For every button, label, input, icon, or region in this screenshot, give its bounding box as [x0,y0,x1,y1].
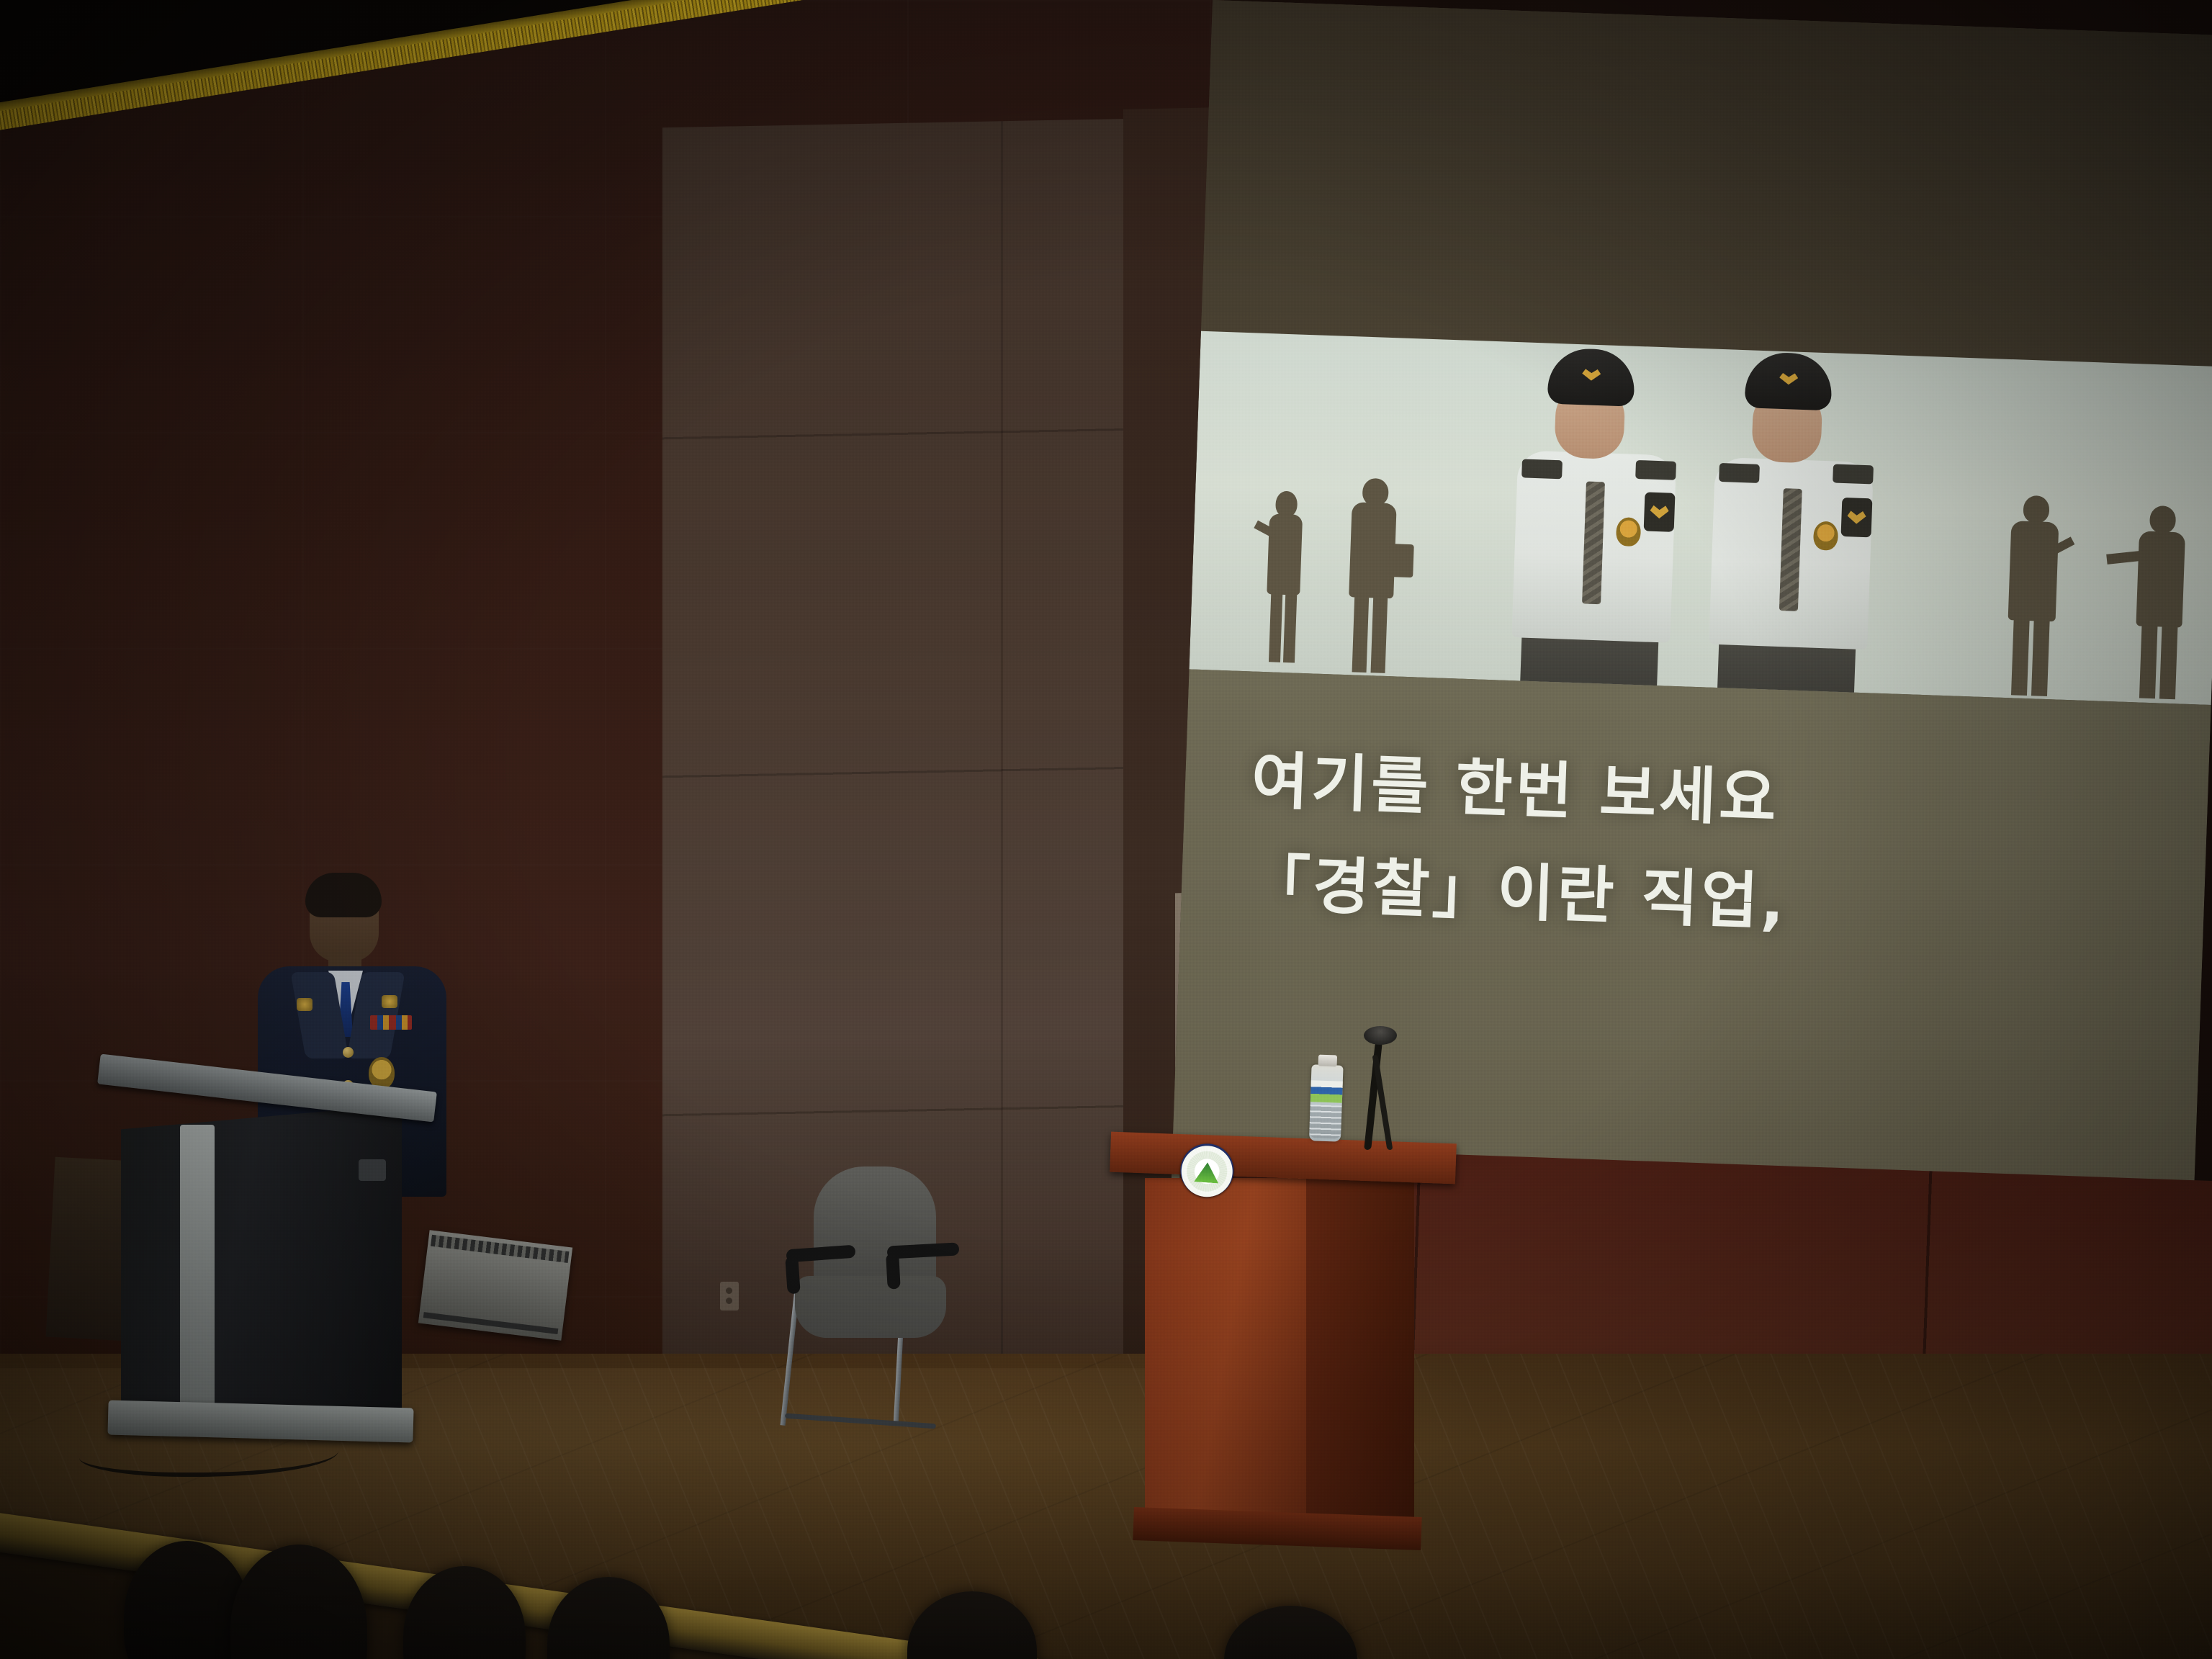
chair-armrest-right [887,1242,960,1259]
wooden-podium [1118,1138,1456,1570]
gooseneck-microphone[interactable] [1351,1026,1408,1148]
slide-caption: 여기를 한번 보세요 「경찰」이란 직업, [1246,737,2160,961]
bottle-cap[interactable] [1318,1055,1338,1067]
bottle-ribs [1309,1105,1342,1139]
presenter-button-1 [343,1047,354,1058]
audience-head [1224,1606,1357,1659]
audience-row [0,1527,2212,1659]
water-bottle[interactable] [1309,1054,1344,1141]
projected-slide: 여기를 한번 보세요 「경찰」이란 직업, [1172,0,2212,1216]
audience-head [403,1566,526,1659]
presenter-hair [305,873,382,917]
audience-head [907,1591,1037,1659]
visitor-chair[interactable] [769,1166,978,1433]
audience-head [230,1545,367,1659]
podium-side-panel [1306,1178,1414,1518]
projection-screen: 여기를 한번 보세요 「경찰」이란 직업, [1172,0,2212,1216]
presenter-ribbon-bar [370,1015,412,1030]
slide-photo-block [1190,331,2212,705]
audience-head [547,1577,670,1659]
slide-top-band [1201,0,2212,367]
lectern-body [121,1105,402,1414]
lectern-control-panel[interactable] [359,1159,386,1181]
chair-seat [795,1276,946,1338]
lectern-trim-stripe [180,1125,215,1406]
auditorium-scene: 여기를 한번 보세요 「경찰」이란 직업, [0,0,2212,1659]
wall-heater [418,1230,572,1340]
presenter-collar-insignia-right [382,995,397,1008]
chair-sled-base [785,1413,936,1429]
dark-lectern [121,1073,409,1455]
bottle-label [1310,1080,1343,1103]
wall-outlet [720,1282,739,1310]
mic-capsule [1364,1026,1397,1045]
presenter-collar-insignia-left [297,998,313,1011]
